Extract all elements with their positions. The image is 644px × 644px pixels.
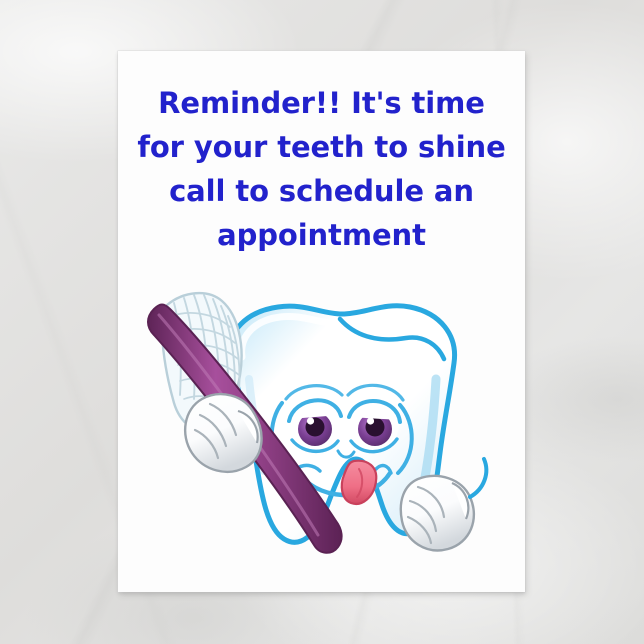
headline-line-2: for your teeth to shine [128,125,515,169]
cartoon-tooth-with-toothbrush-illustration [118,283,525,592]
page-title: Reminder!! It's time for your teeth to s… [118,81,525,257]
right-eye-highlight [367,417,374,424]
left-gloved-hand [185,394,261,472]
headline-line-4: appointment [128,213,515,257]
tongue [342,461,376,504]
headline-line-3: call to schedule an [128,169,515,213]
headline-line-1: Reminder!! It's time [128,81,515,125]
left-eye-highlight [307,417,314,424]
dental-reminder-postcard[interactable]: Reminder!! It's time for your teeth to s… [118,51,525,592]
